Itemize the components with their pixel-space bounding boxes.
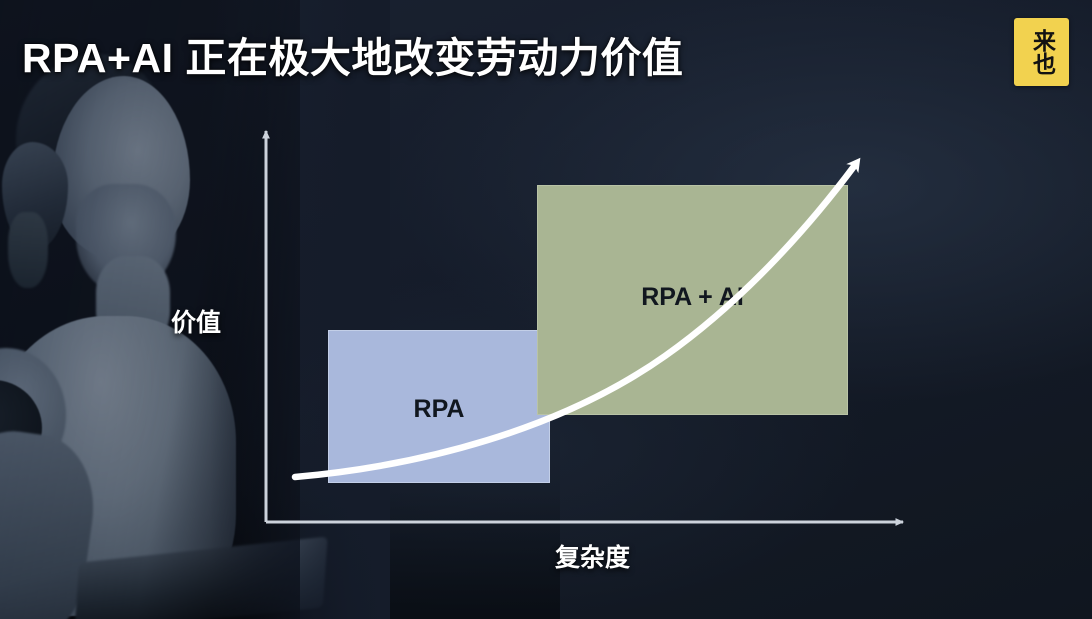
y-axis-label: 价值 <box>171 303 221 339</box>
slide-canvas: RPA+AI 正在极大地改变劳动力价值 来也 RPA RPA + AI 价值 复… <box>0 0 1092 619</box>
x-axis-label: 复杂度 <box>555 538 630 574</box>
region-rpa: RPA <box>328 330 550 483</box>
region-rpa-label: RPA <box>329 395 549 424</box>
region-rpa-ai: RPA + AI <box>537 185 848 415</box>
region-rpa-ai-label: RPA + AI <box>538 283 847 312</box>
